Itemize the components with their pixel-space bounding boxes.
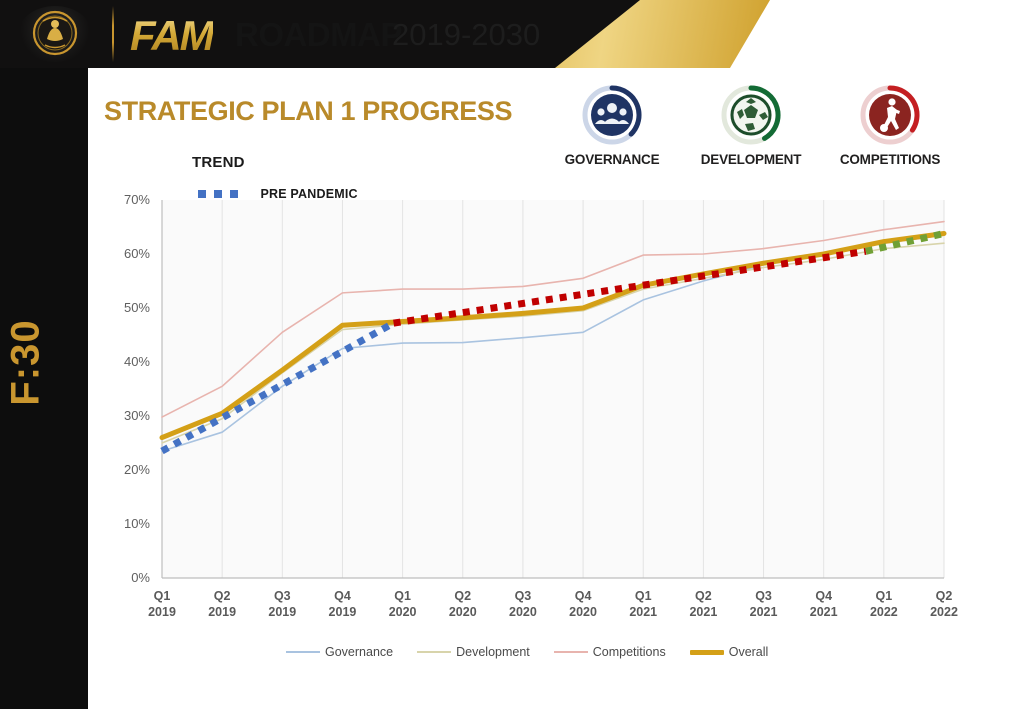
- y-tick-label: 60%: [124, 246, 150, 261]
- x-tick-label: Q32019: [252, 588, 312, 620]
- legend-line-icon: [417, 651, 451, 653]
- x-tick-label: Q22019: [192, 588, 252, 620]
- pillar-competitions: COMPETITIONS: [820, 84, 960, 167]
- pillar-label: COMPETITIONS: [820, 152, 960, 167]
- header-banner: FAM ROADMAP 2019-2030: [0, 0, 1024, 68]
- legend-label: Competitions: [593, 645, 666, 659]
- x-tick-label: Q12019: [132, 588, 192, 620]
- header-divider: [112, 6, 114, 62]
- y-tick-label: 20%: [124, 462, 150, 477]
- legend-line-icon: [554, 651, 588, 653]
- x-tick-label: Q12021: [613, 588, 673, 620]
- x-tick-label: Q22022: [914, 588, 974, 620]
- football-icon: [720, 84, 782, 146]
- legend-label: Development: [456, 645, 530, 659]
- chart-series-legend: GovernanceDevelopmentCompetitionsOverall: [286, 642, 768, 662]
- fam-crest-icon: [18, 6, 92, 62]
- y-tick-label: 40%: [124, 354, 150, 369]
- left-sidebar: F:30: [0, 0, 88, 709]
- x-tick-label: Q42021: [794, 588, 854, 620]
- page-code-label: F:30: [4, 303, 49, 423]
- legend-line-icon: [690, 650, 724, 655]
- people-group-icon: [581, 84, 643, 146]
- trend-legend-title: TREND: [192, 154, 245, 171]
- header-years: 2019-2030: [392, 17, 540, 53]
- x-tick-label: Q12022: [854, 588, 914, 620]
- x-tick-label: Q32020: [493, 588, 553, 620]
- legend-label: Overall: [729, 645, 769, 659]
- x-tick-label: Q42020: [553, 588, 613, 620]
- y-tick-label: 30%: [124, 408, 150, 423]
- x-tick-label: Q42019: [312, 588, 372, 620]
- y-tick-label: 70%: [124, 192, 150, 207]
- legend-line-icon: [286, 651, 320, 653]
- y-tick-label: 10%: [124, 516, 150, 531]
- brand-wordmark: FAM: [130, 12, 213, 60]
- chart-x-axis: Q12019Q22019Q32019Q42019Q12020Q22020Q320…: [162, 588, 942, 632]
- legend-item-competitions[interactable]: Competitions: [554, 645, 666, 659]
- x-tick-label: Q22021: [673, 588, 733, 620]
- chart-canvas: 0%10%20%30%40%50%60%70%: [104, 190, 964, 590]
- x-tick-label: Q22020: [433, 588, 493, 620]
- player-kick-icon: [859, 84, 921, 146]
- x-tick-label: Q12020: [373, 588, 433, 620]
- page-title: STRATEGIC PLAN 1 PROGRESS: [104, 96, 512, 127]
- y-tick-label: 0%: [131, 570, 150, 585]
- x-tick-label: Q32021: [734, 588, 794, 620]
- pillar-label: DEVELOPMENT: [681, 152, 821, 167]
- pillar-label: GOVERNANCE: [542, 152, 682, 167]
- header-title: ROADMAP: [235, 16, 402, 54]
- progress-line-chart: 0%10%20%30%40%50%60%70%: [104, 190, 964, 590]
- legend-item-development[interactable]: Development: [417, 645, 530, 659]
- pillar-development: DEVELOPMENT: [681, 84, 821, 167]
- pillar-governance: GOVERNANCE: [542, 84, 682, 167]
- legend-item-governance[interactable]: Governance: [286, 645, 393, 659]
- y-tick-label: 50%: [124, 300, 150, 315]
- legend-item-overall[interactable]: Overall: [690, 645, 769, 659]
- legend-label: Governance: [325, 645, 393, 659]
